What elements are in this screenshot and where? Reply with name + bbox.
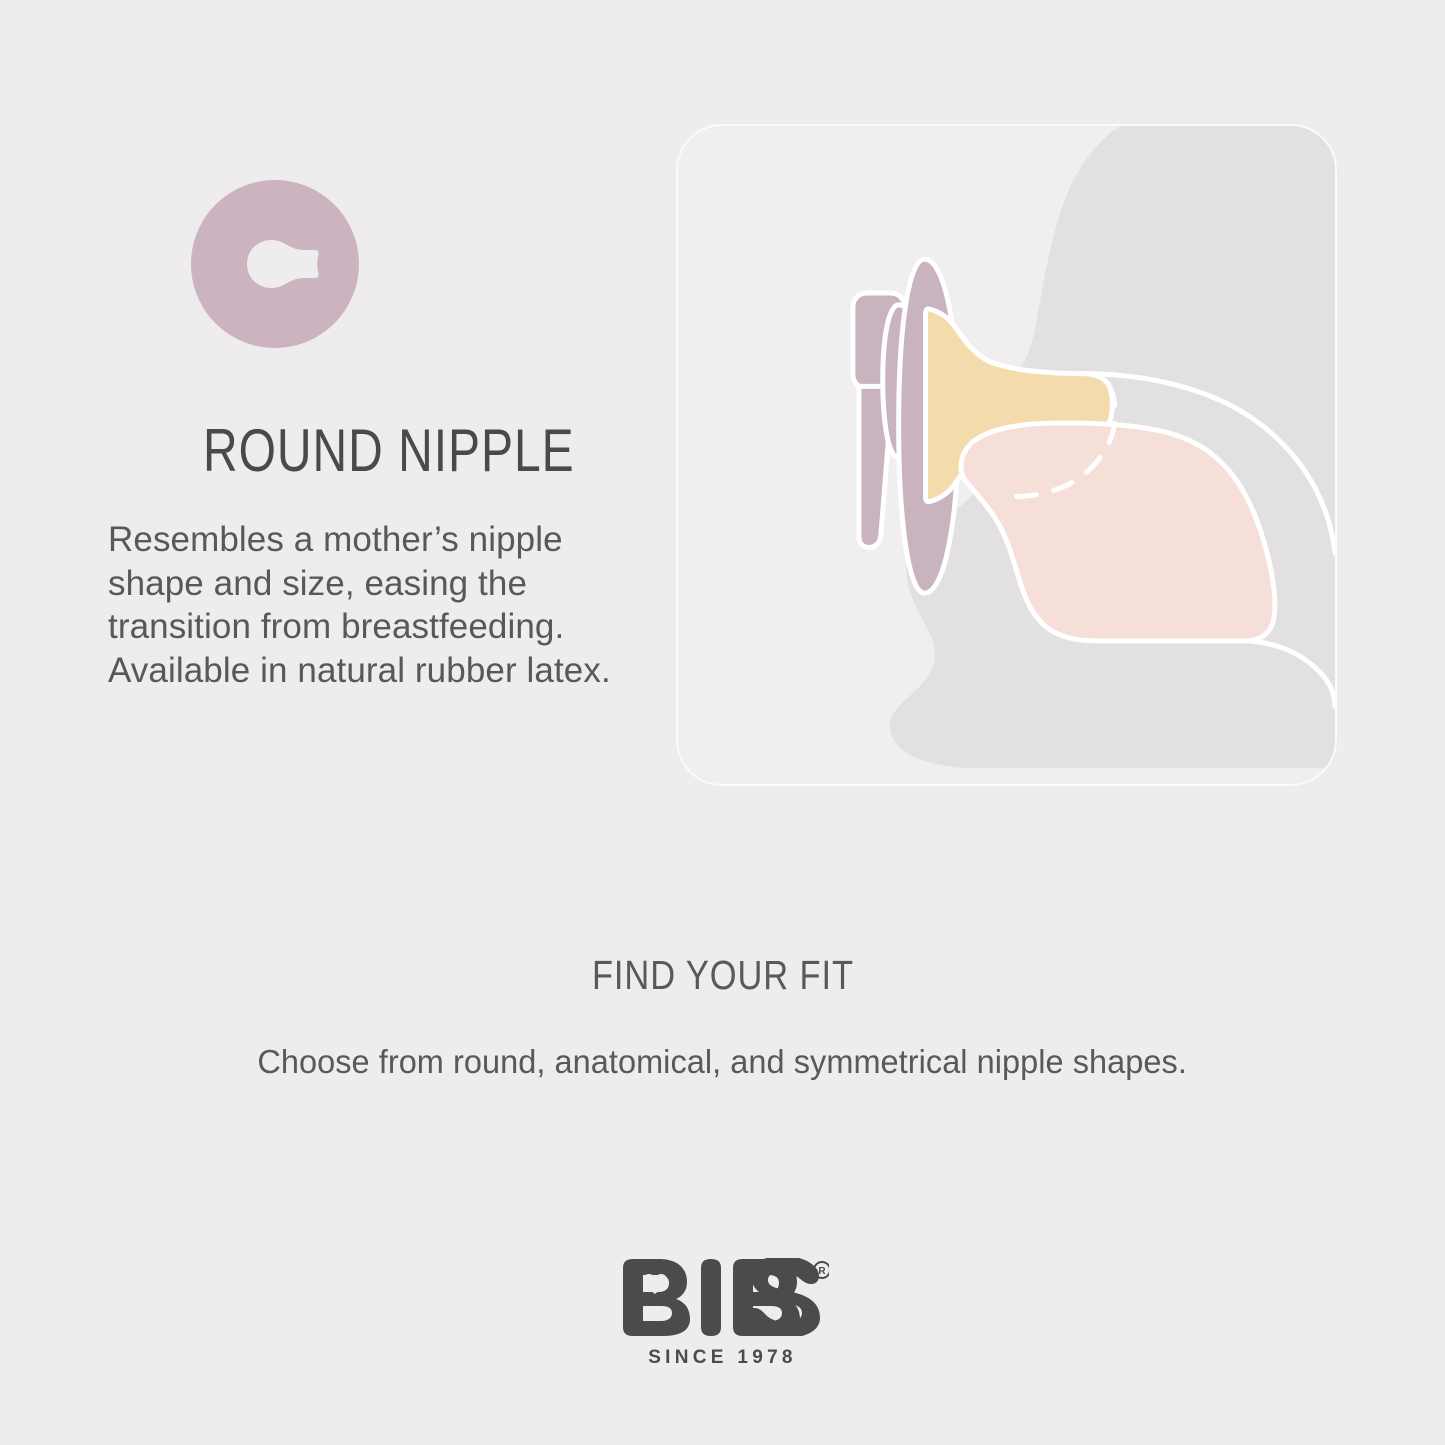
find-your-fit-title-text: FIND YOUR FIT xyxy=(591,952,853,998)
bibs-logo: R SINCE 1978 xyxy=(0,1258,1445,1369)
page-title: ROUND NIPPLE xyxy=(203,420,575,482)
svg-text:R: R xyxy=(818,1266,826,1277)
bibs-wordmark: R xyxy=(617,1258,829,1336)
find-your-fit-title: FIND YOUR FIT xyxy=(0,952,1445,998)
feature-description: Resembles a mother’s nipple shape and si… xyxy=(108,518,618,692)
illustration-panel xyxy=(676,124,1337,786)
page-root: ROUND NIPPLE Resembles a mother’s nipple… xyxy=(0,0,1445,1445)
baby-head-illustration xyxy=(678,126,1335,784)
find-your-fit-subtitle: Choose from round, anatomical, and symme… xyxy=(0,1042,1445,1084)
round-nipple-icon xyxy=(191,180,359,348)
logo-tagline: SINCE 1978 xyxy=(0,1347,1445,1369)
find-your-fit-subtitle-text: Choose from round, anatomical, and symme… xyxy=(258,1042,1188,1084)
feature-section: ROUND NIPPLE Resembles a mother’s nipple… xyxy=(100,180,620,348)
